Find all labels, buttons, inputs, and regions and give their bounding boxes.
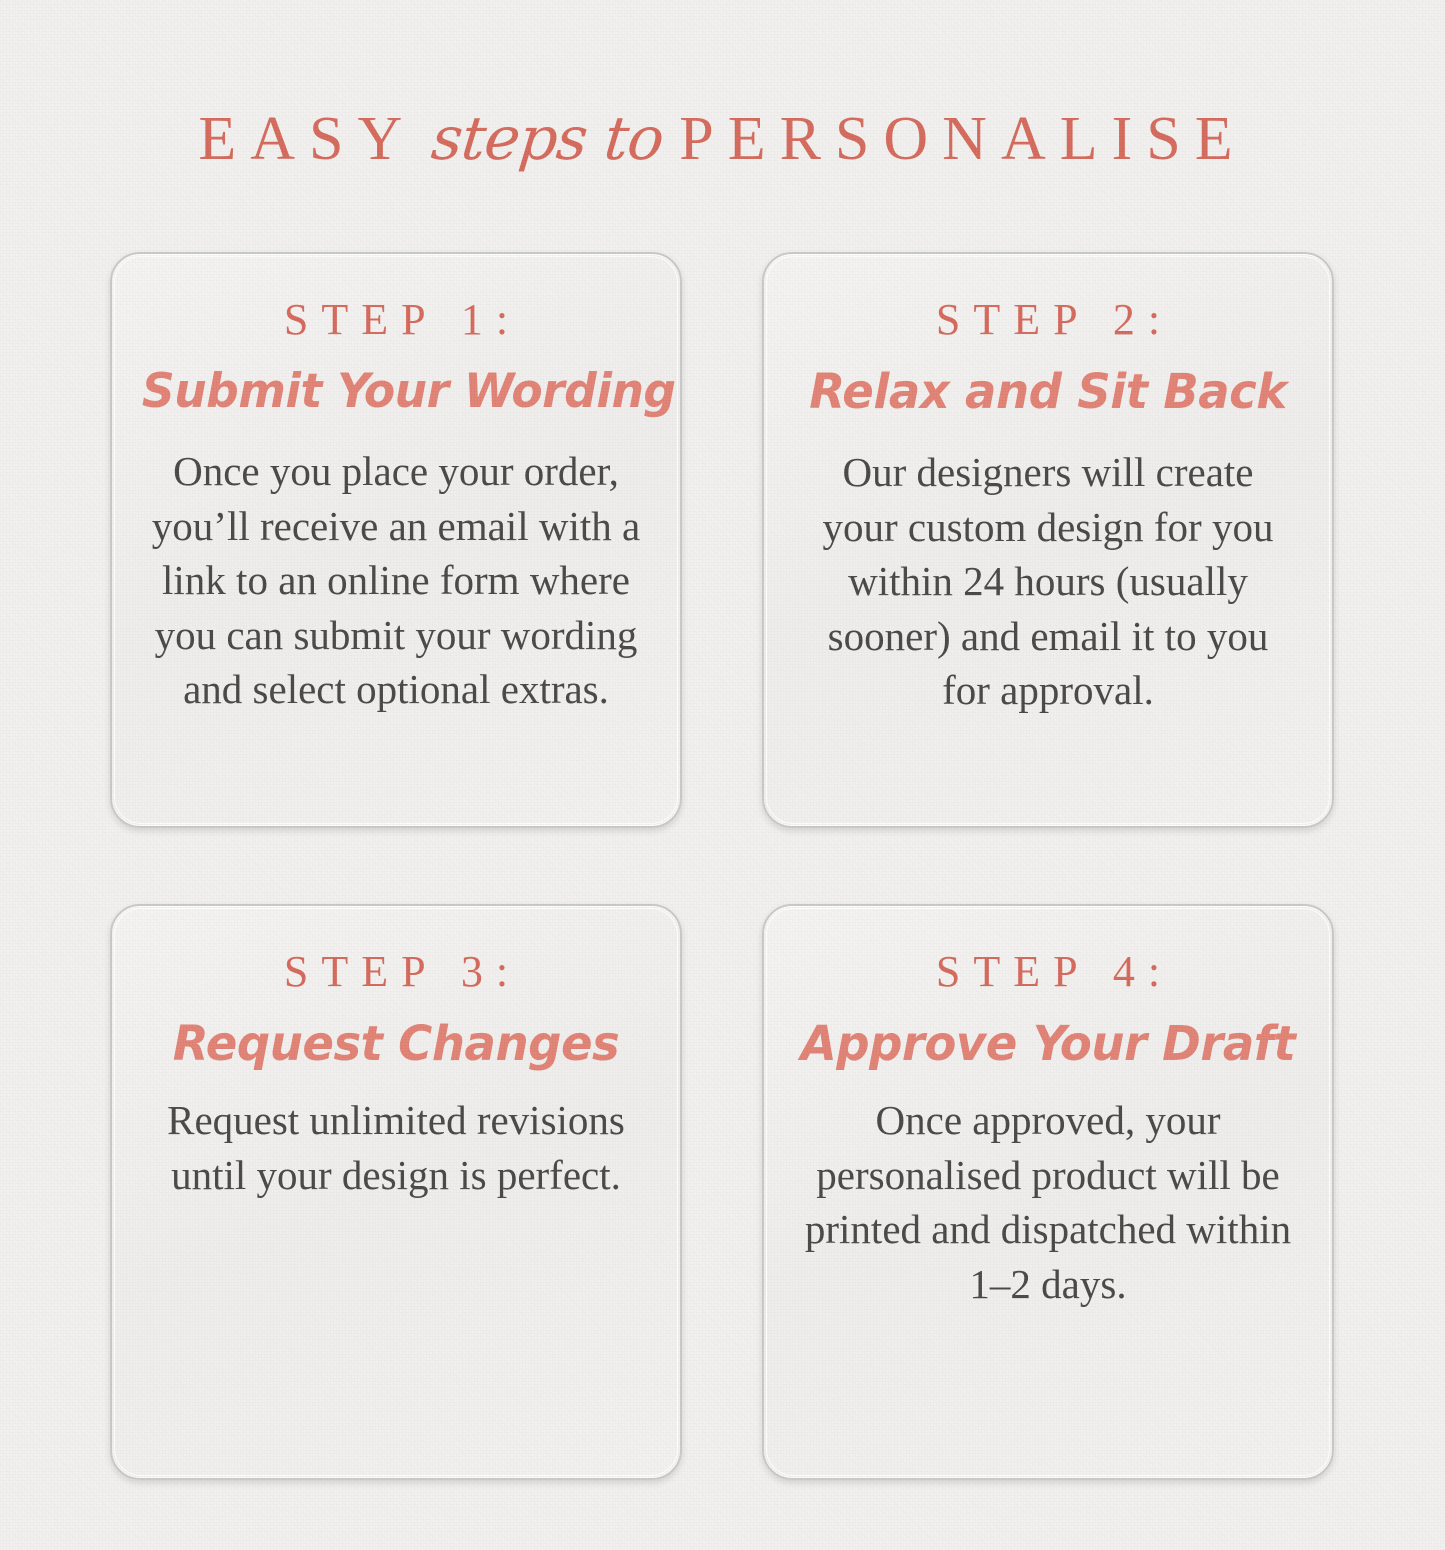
step-4-title: Approve Your Draft	[794, 1018, 1302, 1071]
steps-grid: STEP 1: Submit Your Wording Once you pla…	[110, 252, 1334, 1480]
title-word-easy: EASY	[198, 105, 416, 173]
step-1-label: STEP 1:	[134, 296, 658, 344]
step-3-title: Request Changes	[142, 1018, 650, 1071]
step-card-4: STEP 4: Approve Your Draft Once approved…	[762, 904, 1334, 1480]
step-2-title: Relax and Sit Back	[794, 366, 1302, 419]
title-word-personalise: PERSONALISE	[679, 105, 1246, 173]
step-4-label: STEP 4:	[786, 948, 1310, 996]
step-card-2: STEP 2: Relax and Sit Back Our designers…	[762, 252, 1334, 828]
step-1-body: Once you place your order, you’ll receiv…	[148, 444, 644, 717]
step-card-3: STEP 3: Request Changes Request unlimite…	[110, 904, 682, 1480]
title-script-steps-to: steps to	[413, 109, 682, 169]
step-3-body: Request unlimited revisions until your d…	[148, 1093, 644, 1202]
step-2-body: Our designers will create your custom de…	[800, 445, 1296, 718]
infographic-page: EASYsteps toPERSONALISE STEP 1: Submit Y…	[0, 0, 1445, 1550]
step-1-title: Submit Your Wording	[142, 366, 650, 418]
step-4-body: Once approved, your personalised product…	[800, 1093, 1296, 1311]
page-title: EASYsteps toPERSONALISE	[0, 108, 1445, 170]
step-2-label: STEP 2:	[786, 296, 1310, 344]
step-3-label: STEP 3:	[134, 948, 658, 996]
step-card-1: STEP 1: Submit Your Wording Once you pla…	[110, 252, 682, 828]
